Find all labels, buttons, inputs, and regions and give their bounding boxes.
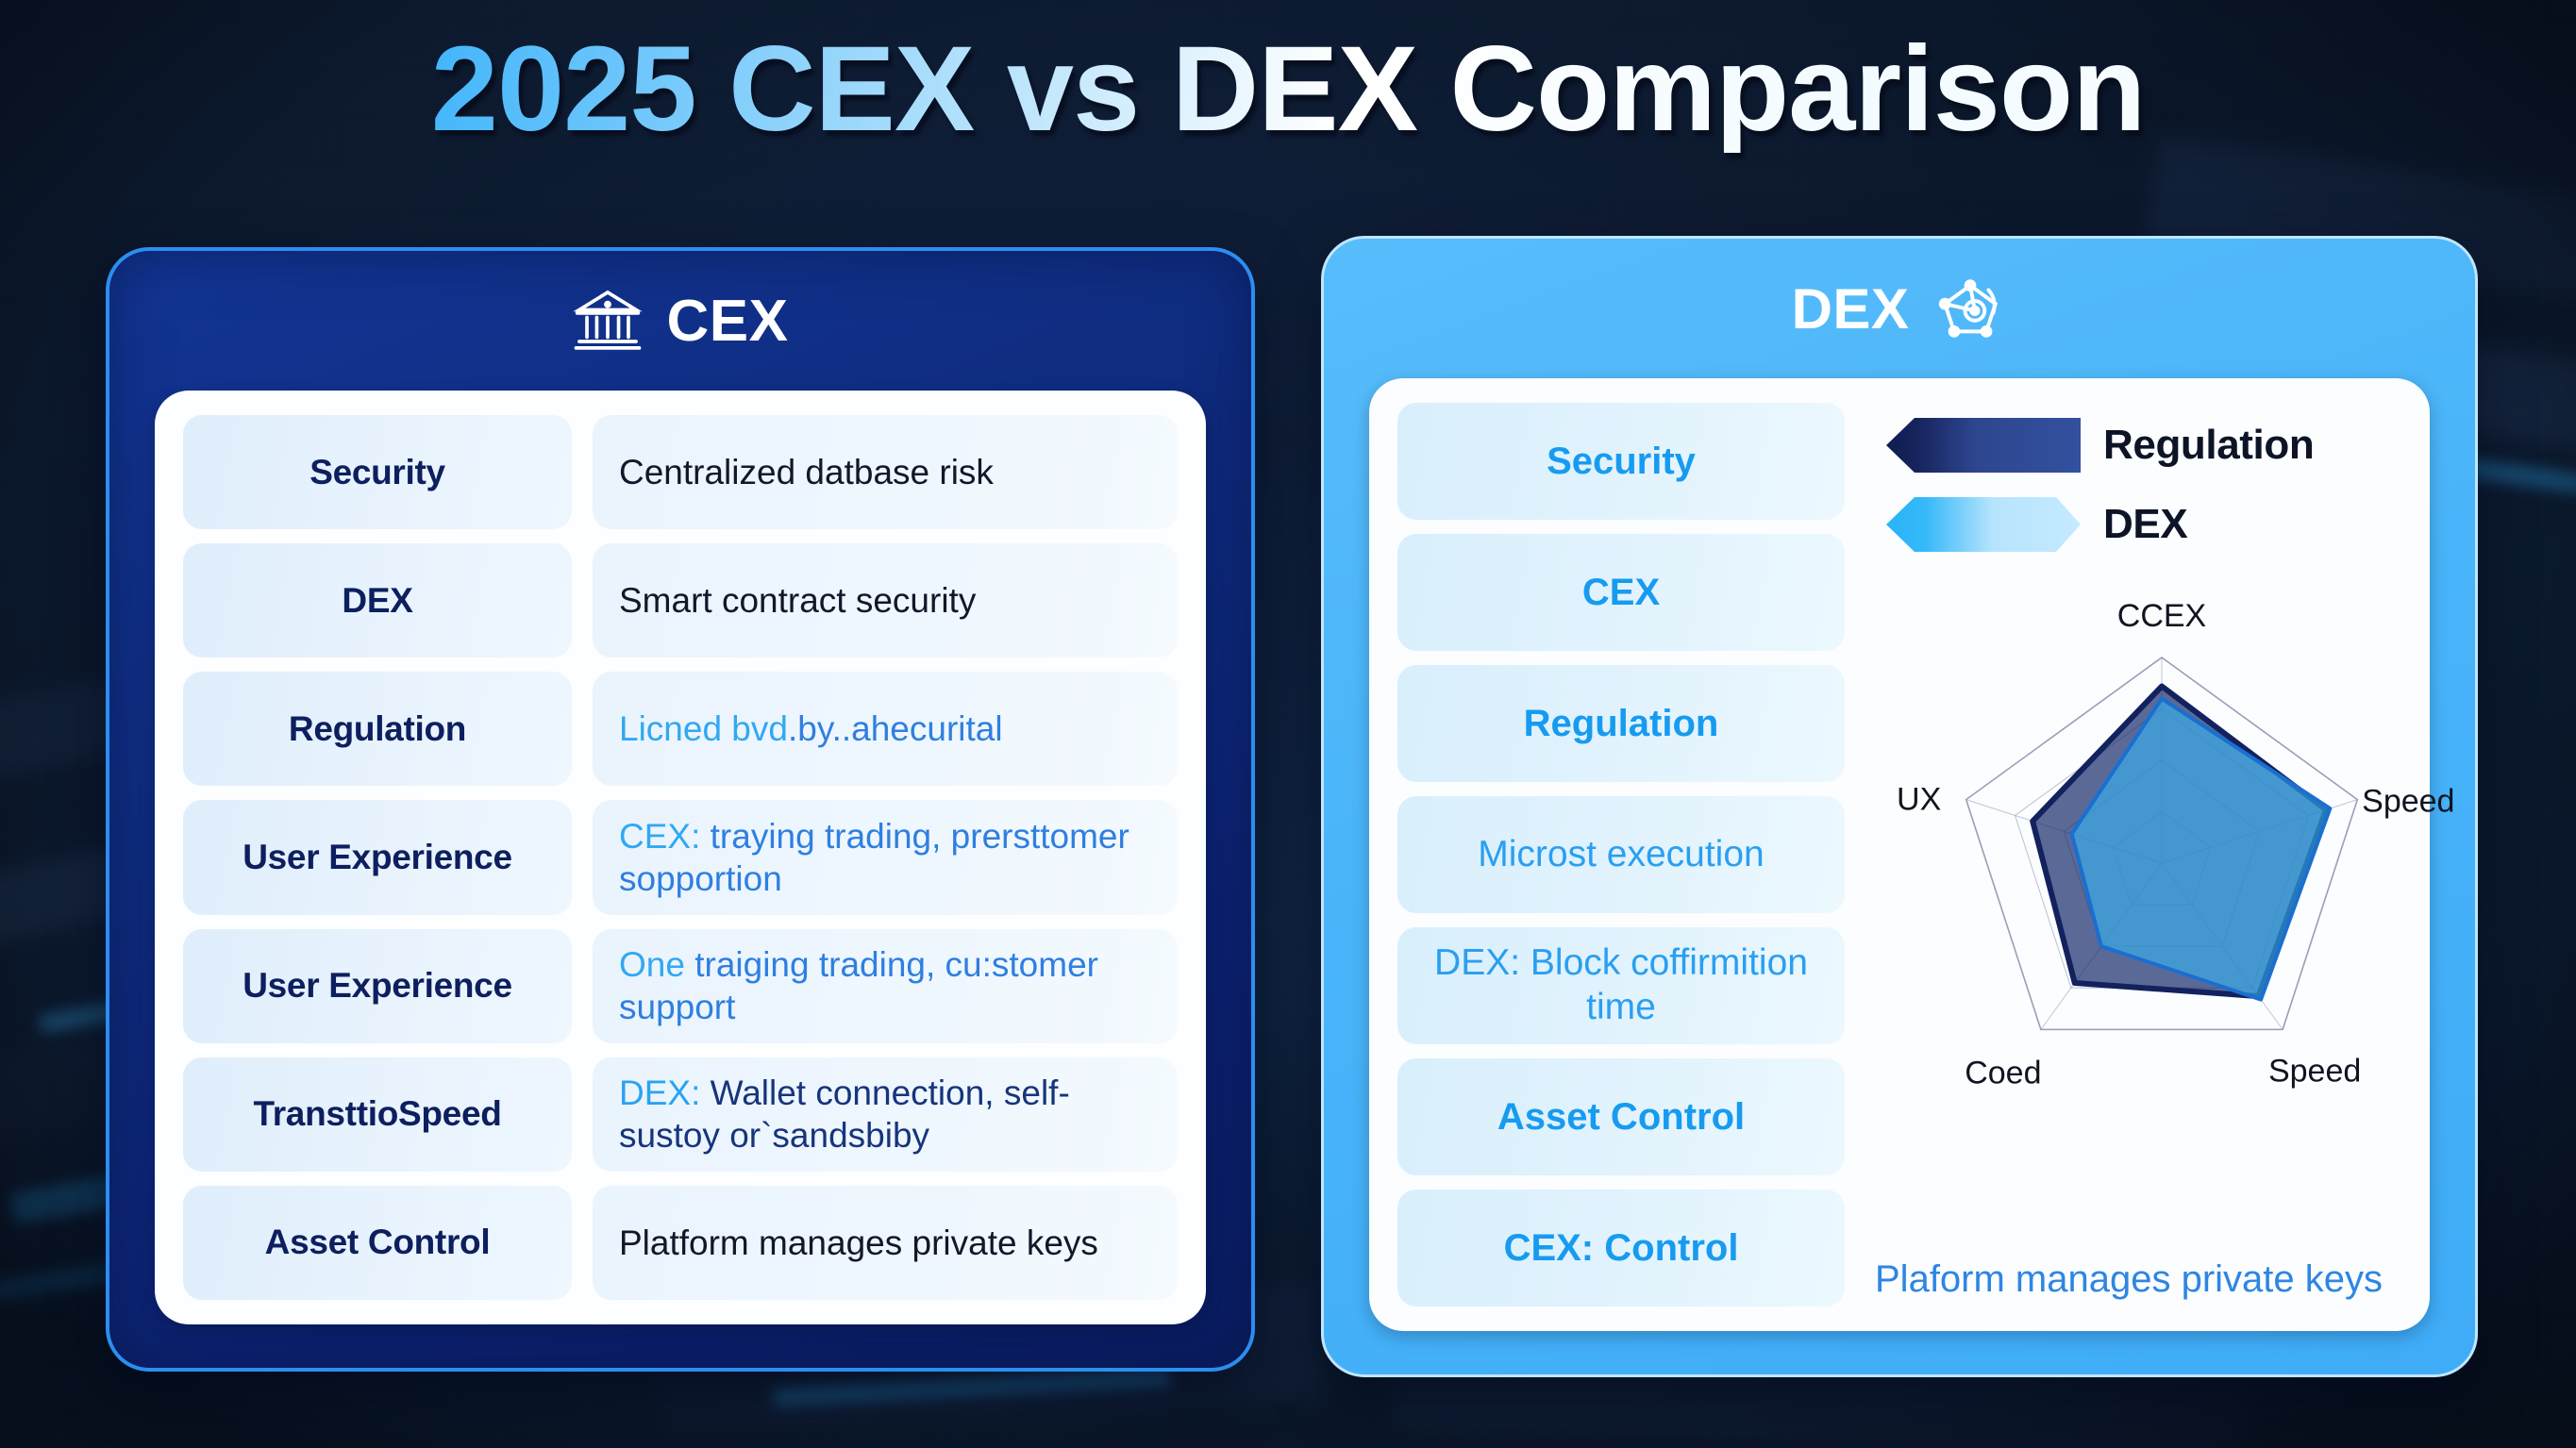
list-item: DEX: Block coffirmition time <box>1397 927 1845 1044</box>
legend-item: DEX <box>1886 497 2401 552</box>
cex-row-key: Regulation <box>183 672 572 786</box>
cex-row-value: DEX: Wallet connection, self-sustoy or`s… <box>593 1057 1178 1172</box>
radar-axis-label: Coed <box>1965 1055 2041 1090</box>
cex-table-panel: Security Centralized datbase risk DEX Sm… <box>155 391 1206 1324</box>
table-row: Regulation Licned bvd.by..ahecurital <box>183 672 1178 786</box>
table-row: TransttioSpeed DEX: Wallet connection, s… <box>183 1057 1178 1172</box>
radar-axis-label: CCEX <box>2117 598 2206 634</box>
cex-card: CEX Security Centralized datbase risk DE… <box>106 247 1255 1372</box>
list-item: Microst execution <box>1397 796 1845 913</box>
cex-row-value: Smart contract security <box>593 543 1178 657</box>
table-row: Security Centralized datbase risk <box>183 415 1178 529</box>
cex-row-value: Licned bvd.by..ahecurital <box>593 672 1178 786</box>
legend-swatch-dex <box>1886 497 2081 552</box>
radar-axis-label: UX <box>1897 782 1941 818</box>
list-item: Security <box>1397 403 1845 520</box>
cex-card-title: CEX <box>667 288 789 355</box>
cex-row-key: Security <box>183 415 572 529</box>
dex-card-title: DEX <box>1792 276 1910 341</box>
cex-row-value: CEX: traying trading, prersttomer soppor… <box>593 800 1178 914</box>
dex-body: Security CEX Regulation Microst executio… <box>1397 403 2401 1307</box>
cex-row-key: DEX <box>183 543 572 657</box>
cex-row-value: One traiging trading, cu:stomer support <box>593 929 1178 1043</box>
cex-row-value-rest: traiging trading, cu:stomer support <box>619 945 1098 1026</box>
legend-label: Regulation <box>2103 422 2314 469</box>
cex-row-value-lead: One <box>619 945 685 984</box>
legend-item: Regulation <box>1886 418 2401 473</box>
list-item: CEX <box>1397 534 1845 651</box>
chart-legend: Regulation DEX <box>1869 403 2401 576</box>
table-row: Asset Control Platform manages private k… <box>183 1186 1178 1300</box>
cex-row-value-lead: Licned bvd <box>619 709 788 748</box>
dex-caption: Plaform manages private keys <box>1869 1258 2401 1307</box>
dex-chart-column: Regulation DEX CCEXSpeedSpeedCoedUX Plaf… <box>1869 403 2401 1307</box>
dex-row-list: Security CEX Regulation Microst executio… <box>1397 403 1845 1307</box>
cex-row-key: User Experience <box>183 800 572 914</box>
radar-axis-label: Speed <box>2268 1053 2361 1089</box>
legend-label: DEX <box>2103 501 2187 548</box>
cex-row-value-lead: DEX: <box>619 1074 700 1112</box>
cex-row-key: TransttioSpeed <box>183 1057 572 1172</box>
radar-chart: CCEXSpeedSpeedCoedUX <box>1869 576 2401 1258</box>
dex-card: DEX Security CEX Regulation Micros <box>1321 236 2478 1377</box>
page-title: 2025 CEX vs DEX Comparison <box>0 26 2576 153</box>
dex-panel: Security CEX Regulation Microst executio… <box>1369 378 2430 1331</box>
cex-row-value-lead: CEX: <box>619 817 700 856</box>
dex-card-header: DEX <box>1324 239 2475 378</box>
cex-row-key: User Experience <box>183 929 572 1043</box>
radar-axis-label: Speed <box>2362 784 2454 820</box>
legend-swatch-regulation <box>1886 418 2081 473</box>
cex-row-value: Platform manages private keys <box>593 1186 1178 1300</box>
table-row: User Experience One traiging trading, cu… <box>183 929 1178 1043</box>
cex-card-header: CEX <box>109 251 1251 391</box>
table-row: User Experience CEX: traying trading, pr… <box>183 800 1178 914</box>
table-row: DEX Smart contract security <box>183 543 1178 657</box>
cex-table: Security Centralized datbase risk DEX Sm… <box>183 415 1178 1300</box>
bank-icon <box>573 286 643 356</box>
cex-row-key: Asset Control <box>183 1186 572 1300</box>
cex-row-value-rest: .by..ahecurital <box>788 709 1003 748</box>
cex-row-value: Centralized datbase risk <box>593 415 1178 529</box>
radar-chart-svg: CCEXSpeedSpeedCoedUX <box>1869 571 2454 1099</box>
list-item: CEX: Control <box>1397 1190 1845 1307</box>
network-nodes-icon <box>1933 272 2007 345</box>
list-item: Regulation <box>1397 665 1845 782</box>
list-item: Asset Control <box>1397 1058 1845 1175</box>
